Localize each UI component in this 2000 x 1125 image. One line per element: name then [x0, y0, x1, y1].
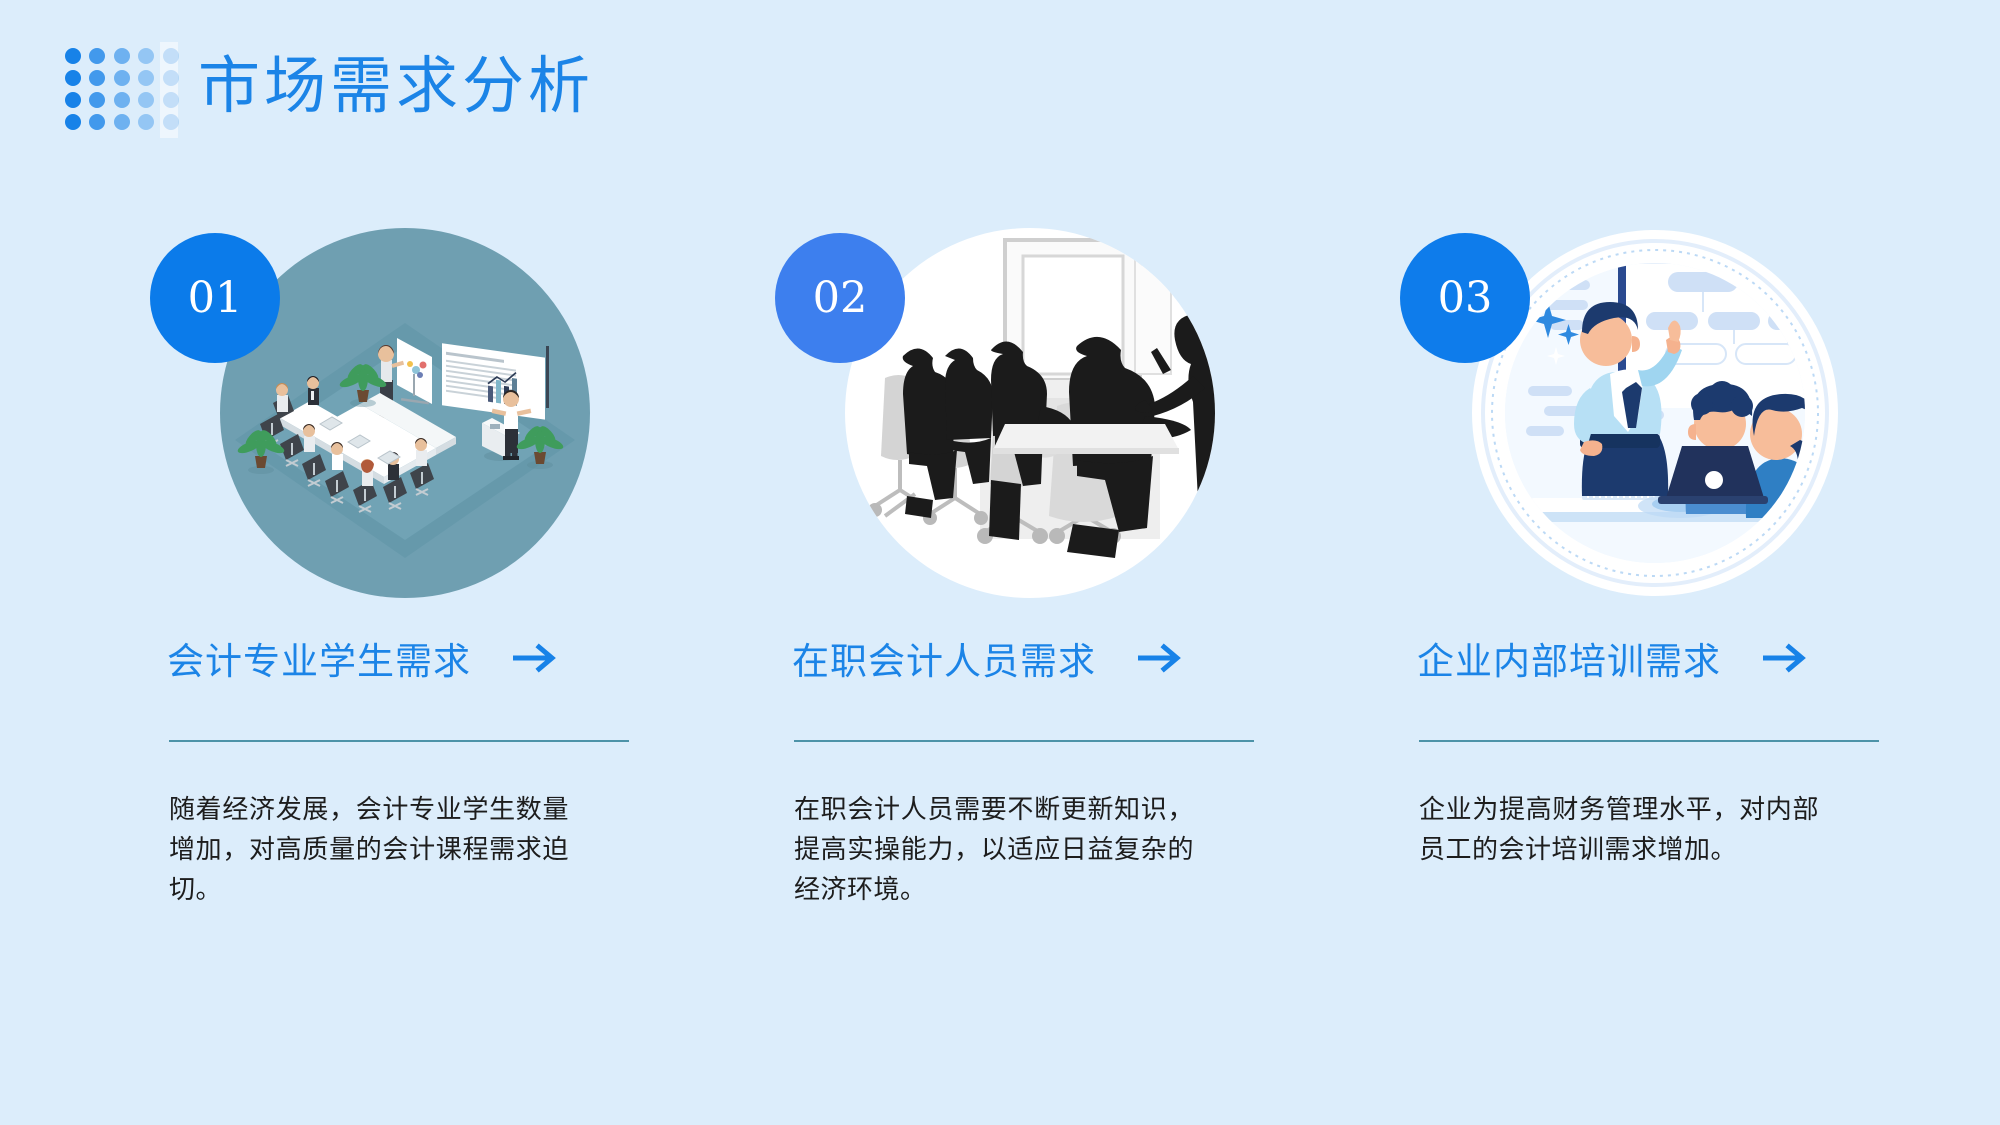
card-market-segment-3[interactable]: 03 企业内部培训需求 企业为提高财务管理水平，对内部员工的会计培训需求增加。: [1405, 210, 1925, 1010]
arrow-right-glyph: [1763, 641, 1811, 675]
card-figure-1: 01: [220, 228, 590, 598]
card-heading-row-2[interactable]: 在职会计人员需求: [792, 628, 1297, 688]
cards-row: 01 会计专业学生需求 随着经济发展，会计专业学生数量增加，对高质量的会计课程需…: [0, 210, 2000, 1010]
card-body-3: 企业为提高财务管理水平，对内部员工的会计培训需求增加。: [1419, 790, 1819, 870]
card-heading-3: 企业内部培训需求: [1417, 631, 1721, 685]
card-heading-2: 在职会计人员需求: [792, 631, 1096, 685]
card-market-segment-2[interactable]: 02 在职会计人员需求 在职会计人员需要不断更新知识，提高实操能力，以适应日益复…: [780, 210, 1300, 1010]
slide-header: 市场需求分析: [0, 0, 2000, 180]
card-divider-2: [794, 740, 1254, 742]
arrow-right-icon[interactable]: [1138, 641, 1186, 675]
card-figure-3: 03: [1470, 228, 1840, 598]
card-heading-row-3[interactable]: 企业内部培训需求: [1417, 628, 1922, 688]
arrow-right-icon[interactable]: [1763, 641, 1811, 675]
arrow-right-glyph: [513, 641, 561, 675]
dot-grid-icon: [65, 45, 187, 133]
card-heading-1: 会计专业学生需求: [167, 631, 471, 685]
card-divider-3: [1419, 740, 1879, 742]
page-title: 市场需求分析: [198, 38, 594, 134]
card-number-badge-2: 02: [775, 233, 905, 363]
card-figure-2: 02: [845, 228, 1215, 598]
card-number-badge-1: 01: [150, 233, 280, 363]
arrow-right-glyph: [1138, 641, 1186, 675]
card-market-segment-1[interactable]: 01 会计专业学生需求 随着经济发展，会计专业学生数量增加，对高质量的会计课程需…: [155, 210, 675, 1010]
card-heading-row-1[interactable]: 会计专业学生需求: [167, 628, 672, 688]
card-number-badge-3: 03: [1400, 233, 1530, 363]
card-body-1: 随着经济发展，会计专业学生数量增加，对高质量的会计课程需求迫切。: [169, 790, 569, 910]
card-body-2: 在职会计人员需要不断更新知识，提高实操能力，以适应日益复杂的经济环境。: [794, 790, 1194, 910]
card-divider-1: [169, 740, 629, 742]
arrow-right-icon[interactable]: [513, 641, 561, 675]
